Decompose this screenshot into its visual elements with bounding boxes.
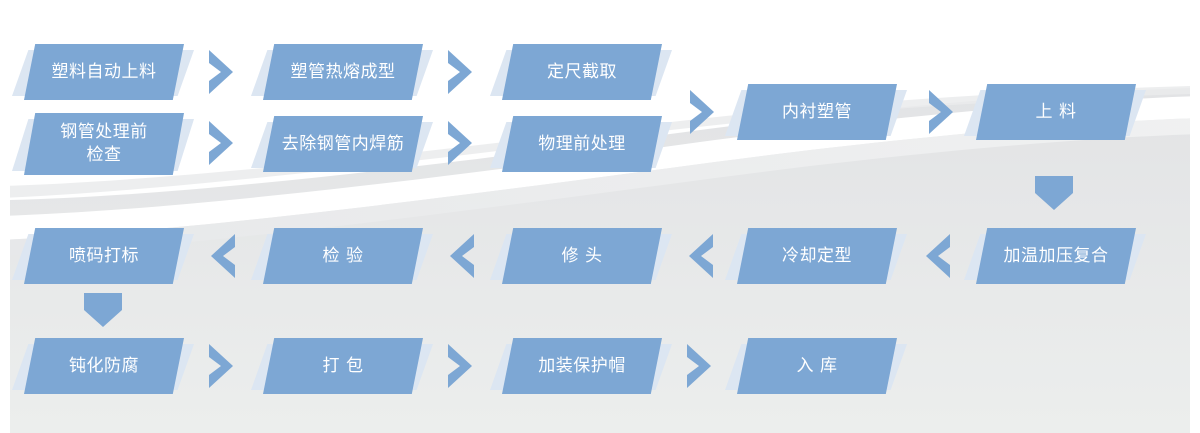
process-node-label: 喷码打标 xyxy=(24,228,184,284)
process-node-label: 钝化防腐 xyxy=(24,338,184,394)
process-node[interactable]: 入 库 xyxy=(737,338,897,394)
process-node-label: 物理前处理 xyxy=(502,116,662,172)
chevron-right-icon xyxy=(444,48,478,96)
process-node-label: 定尺截取 xyxy=(502,44,662,100)
process-node[interactable]: 定尺截取 xyxy=(502,44,662,100)
chevron-right-icon xyxy=(925,88,959,136)
chevron-right-icon xyxy=(205,48,239,96)
process-node[interactable]: 打 包 xyxy=(263,338,423,394)
chevron-left-icon xyxy=(205,232,239,280)
chevron-right-icon xyxy=(205,119,239,167)
chevron-right-icon xyxy=(444,119,478,167)
process-node[interactable]: 去除钢管内焊筋 xyxy=(263,116,423,172)
process-node[interactable]: 检 验 xyxy=(263,228,423,284)
process-node[interactable]: 加温加压复合 xyxy=(976,228,1136,284)
process-node[interactable]: 塑料自动上料 xyxy=(24,44,184,100)
process-node-label: 塑料自动上料 xyxy=(24,44,184,100)
process-node-label: 去除钢管内焊筋 xyxy=(263,116,423,172)
process-node-label: 上 料 xyxy=(976,84,1136,140)
process-node[interactable]: 钝化防腐 xyxy=(24,338,184,394)
process-node[interactable]: 钢管处理前 检查 xyxy=(24,113,184,175)
chevron-right-icon xyxy=(444,342,478,390)
process-node-label: 打 包 xyxy=(263,338,423,394)
process-node-label: 检 验 xyxy=(263,228,423,284)
process-node-label: 内衬塑管 xyxy=(737,84,897,140)
chevron-right-icon xyxy=(683,342,717,390)
chevron-right-icon xyxy=(205,342,239,390)
process-node-label: 加温加压复合 xyxy=(976,228,1136,284)
process-node[interactable]: 喷码打标 xyxy=(24,228,184,284)
bg-right-margin xyxy=(1190,0,1200,433)
process-node[interactable]: 修 头 xyxy=(502,228,662,284)
chevron-left-icon xyxy=(920,232,954,280)
process-node[interactable]: 加装保护帽 xyxy=(502,338,662,394)
process-node[interactable]: 物理前处理 xyxy=(502,116,662,172)
process-node-label: 入 库 xyxy=(737,338,897,394)
process-flow-diagram: 塑料自动上料塑管热熔成型定尺截取钢管处理前 检查去除钢管内焊筋物理前处理内衬塑管… xyxy=(0,0,1200,433)
process-node[interactable]: 塑管热熔成型 xyxy=(263,44,423,100)
process-node-label: 钢管处理前 检查 xyxy=(24,113,184,175)
process-node-label: 冷却定型 xyxy=(737,228,897,284)
process-node-label: 塑管热熔成型 xyxy=(263,44,423,100)
process-node-label: 修 头 xyxy=(502,228,662,284)
bg-left-margin xyxy=(0,0,10,433)
process-node[interactable]: 内衬塑管 xyxy=(737,84,897,140)
chevron-left-icon xyxy=(444,232,478,280)
process-node[interactable]: 冷却定型 xyxy=(737,228,897,284)
arrow-down-icon xyxy=(1035,176,1073,210)
chevron-right-icon xyxy=(686,88,720,136)
arrow-down-icon xyxy=(84,293,122,327)
process-node[interactable]: 上 料 xyxy=(976,84,1136,140)
chevron-left-icon xyxy=(683,232,717,280)
process-node-label: 加装保护帽 xyxy=(502,338,662,394)
